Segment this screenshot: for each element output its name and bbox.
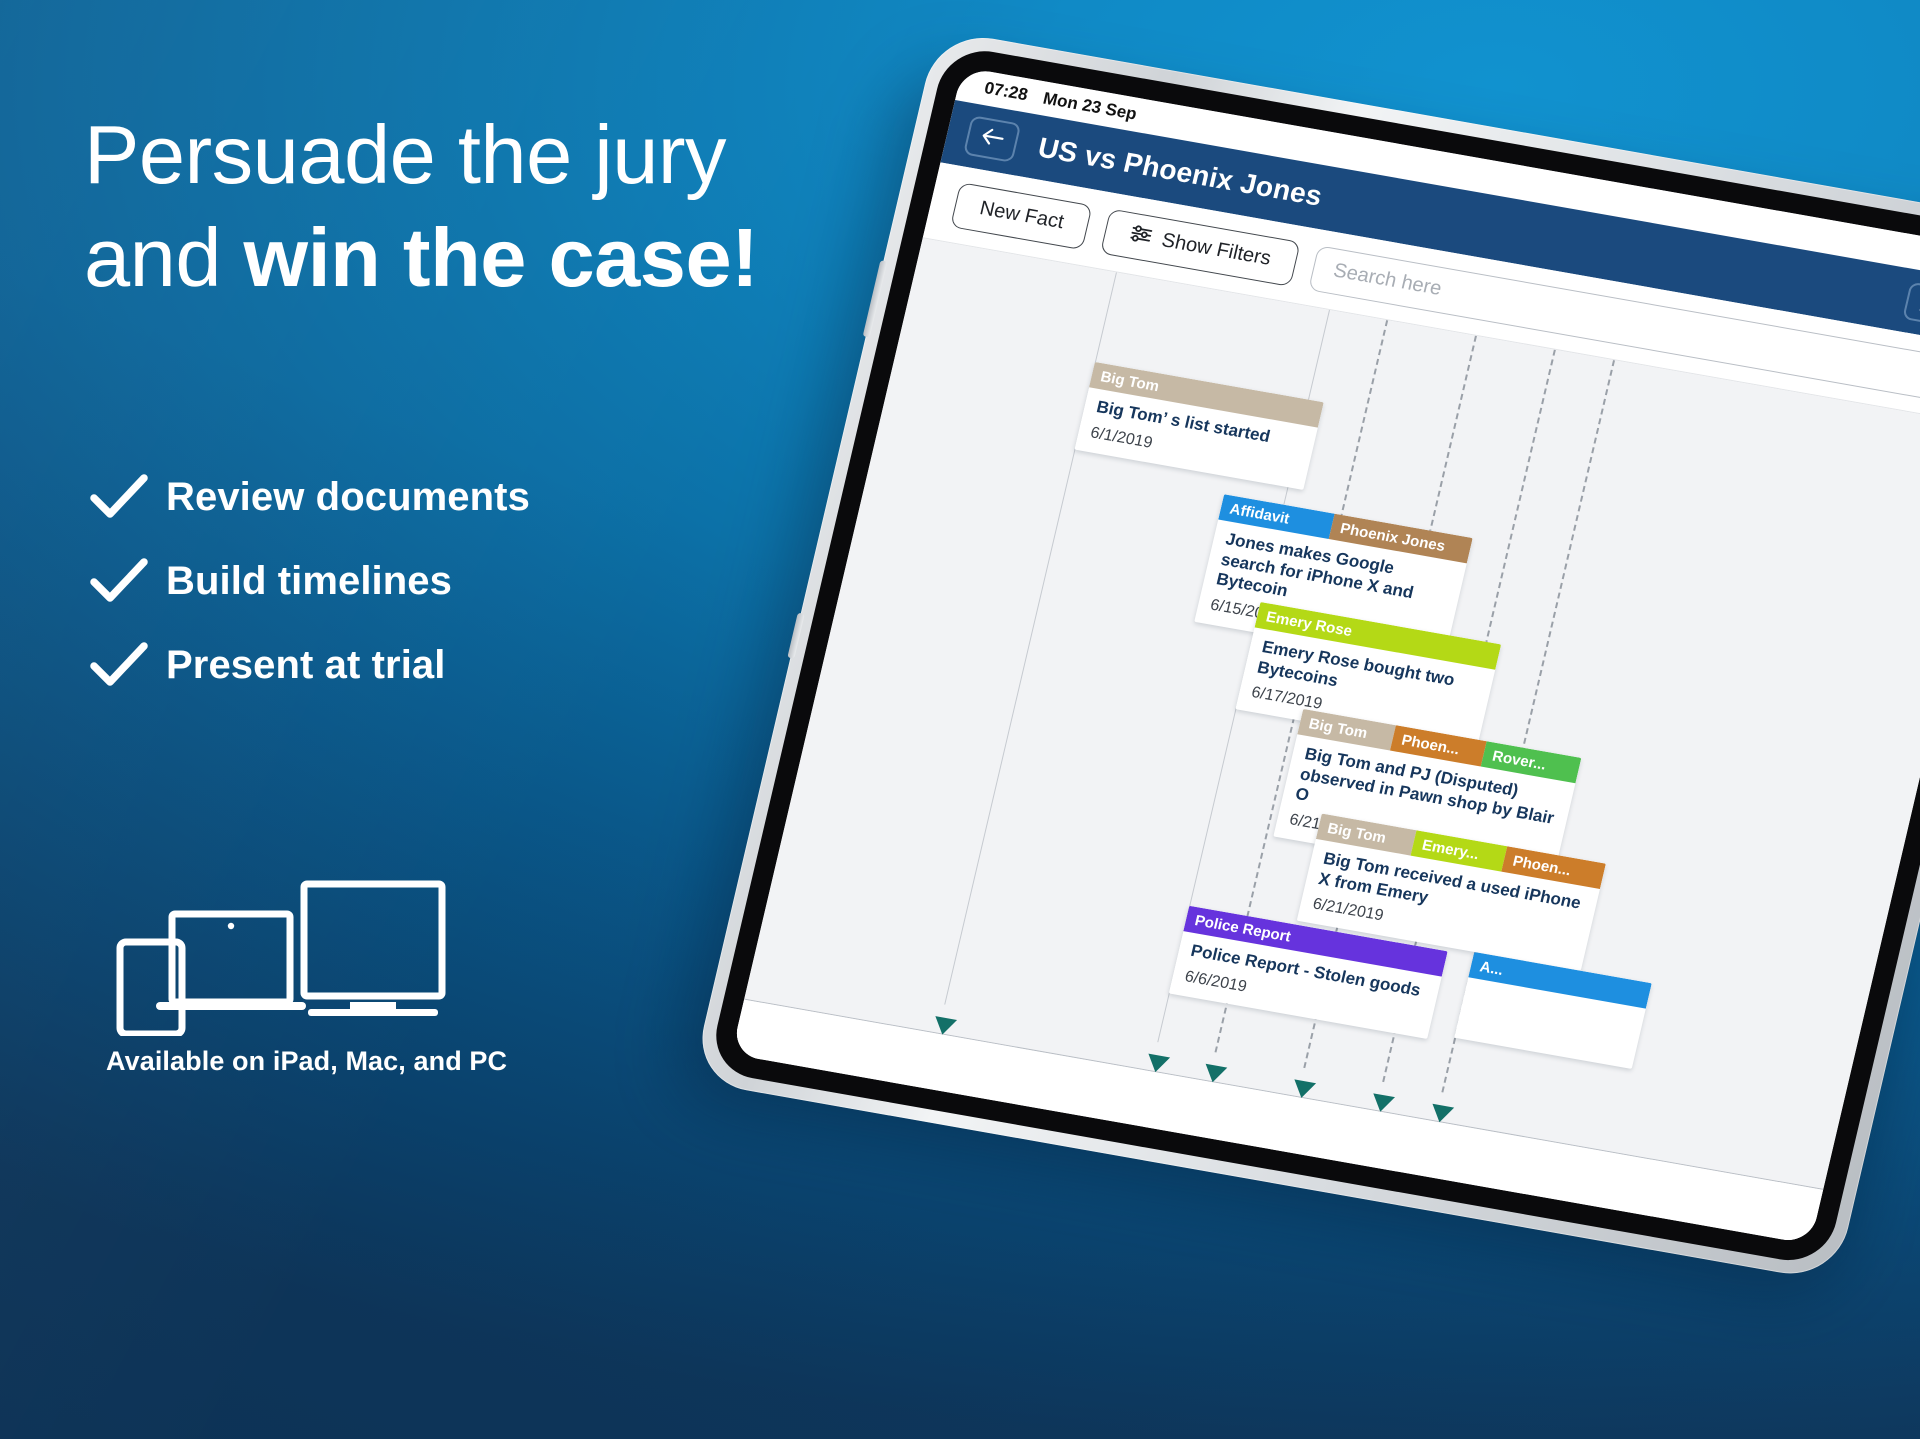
timeline-card[interactable]: A... [1454,952,1652,1069]
availability-text: Available on iPad, Mac, and PC [106,1046,507,1077]
headline-line-1: Persuade the jury [84,108,726,201]
tag-label: Emery... [1420,836,1480,863]
tag-label: Phoen... [1400,731,1461,758]
list-item: Review documents [88,455,530,539]
headline-line-2-bold: win the case! [244,211,759,304]
tag-label: Affidavit [1228,500,1291,527]
list-item: Present at trial [88,623,530,707]
tag-label: Rover... [1491,747,1548,773]
app-screen: 07:28 Mon 23 Sep • • • US vs Phoenix Jon… [731,67,1920,1244]
share-icon[interactable] [1902,282,1920,327]
new-fact-button[interactable]: New Fact [950,182,1093,250]
back-button[interactable] [963,115,1021,163]
show-filters-label: Show Filters [1159,229,1273,271]
timeline-card[interactable]: Big Tom Big Tom’ s list started 6/1/2019 [1074,362,1323,490]
bullet-label: Build timelines [166,559,452,604]
list-item: Build timelines [88,539,530,623]
tag-label: Phoen... [1511,852,1572,879]
tag-label: Big Tom [1326,820,1388,847]
bullet-label: Review documents [166,475,530,520]
tag-label: Big Tom [1307,715,1369,742]
navbar-actions [1902,282,1920,337]
status-time: 07:28 [982,78,1029,105]
timeline-canvas[interactable]: Big Tom Big Tom’ s list started 6/1/2019 [731,238,1920,1244]
check-icon [88,634,150,696]
bullet-label: Present at trial [166,643,446,688]
tag-label: Big Tom [1099,368,1161,395]
search-placeholder: Search here [1331,260,1444,301]
headline: Persuade the jury and win the case! [84,104,904,310]
check-icon [88,550,150,612]
check-icon [88,466,150,528]
tablet-device: 07:28 Mon 23 Sep • • • US vs Phoenix Jon… [691,29,1920,1282]
feature-bullet-list: Review documents Build timelines Present… [88,455,530,707]
headline-line-2-light: and [84,211,244,304]
arrow-left-icon [978,126,1007,153]
new-fact-label: New Fact [977,197,1066,234]
tag-label: A... [1478,958,1505,979]
sliders-icon [1128,223,1155,250]
devices-icon [112,874,452,1036]
